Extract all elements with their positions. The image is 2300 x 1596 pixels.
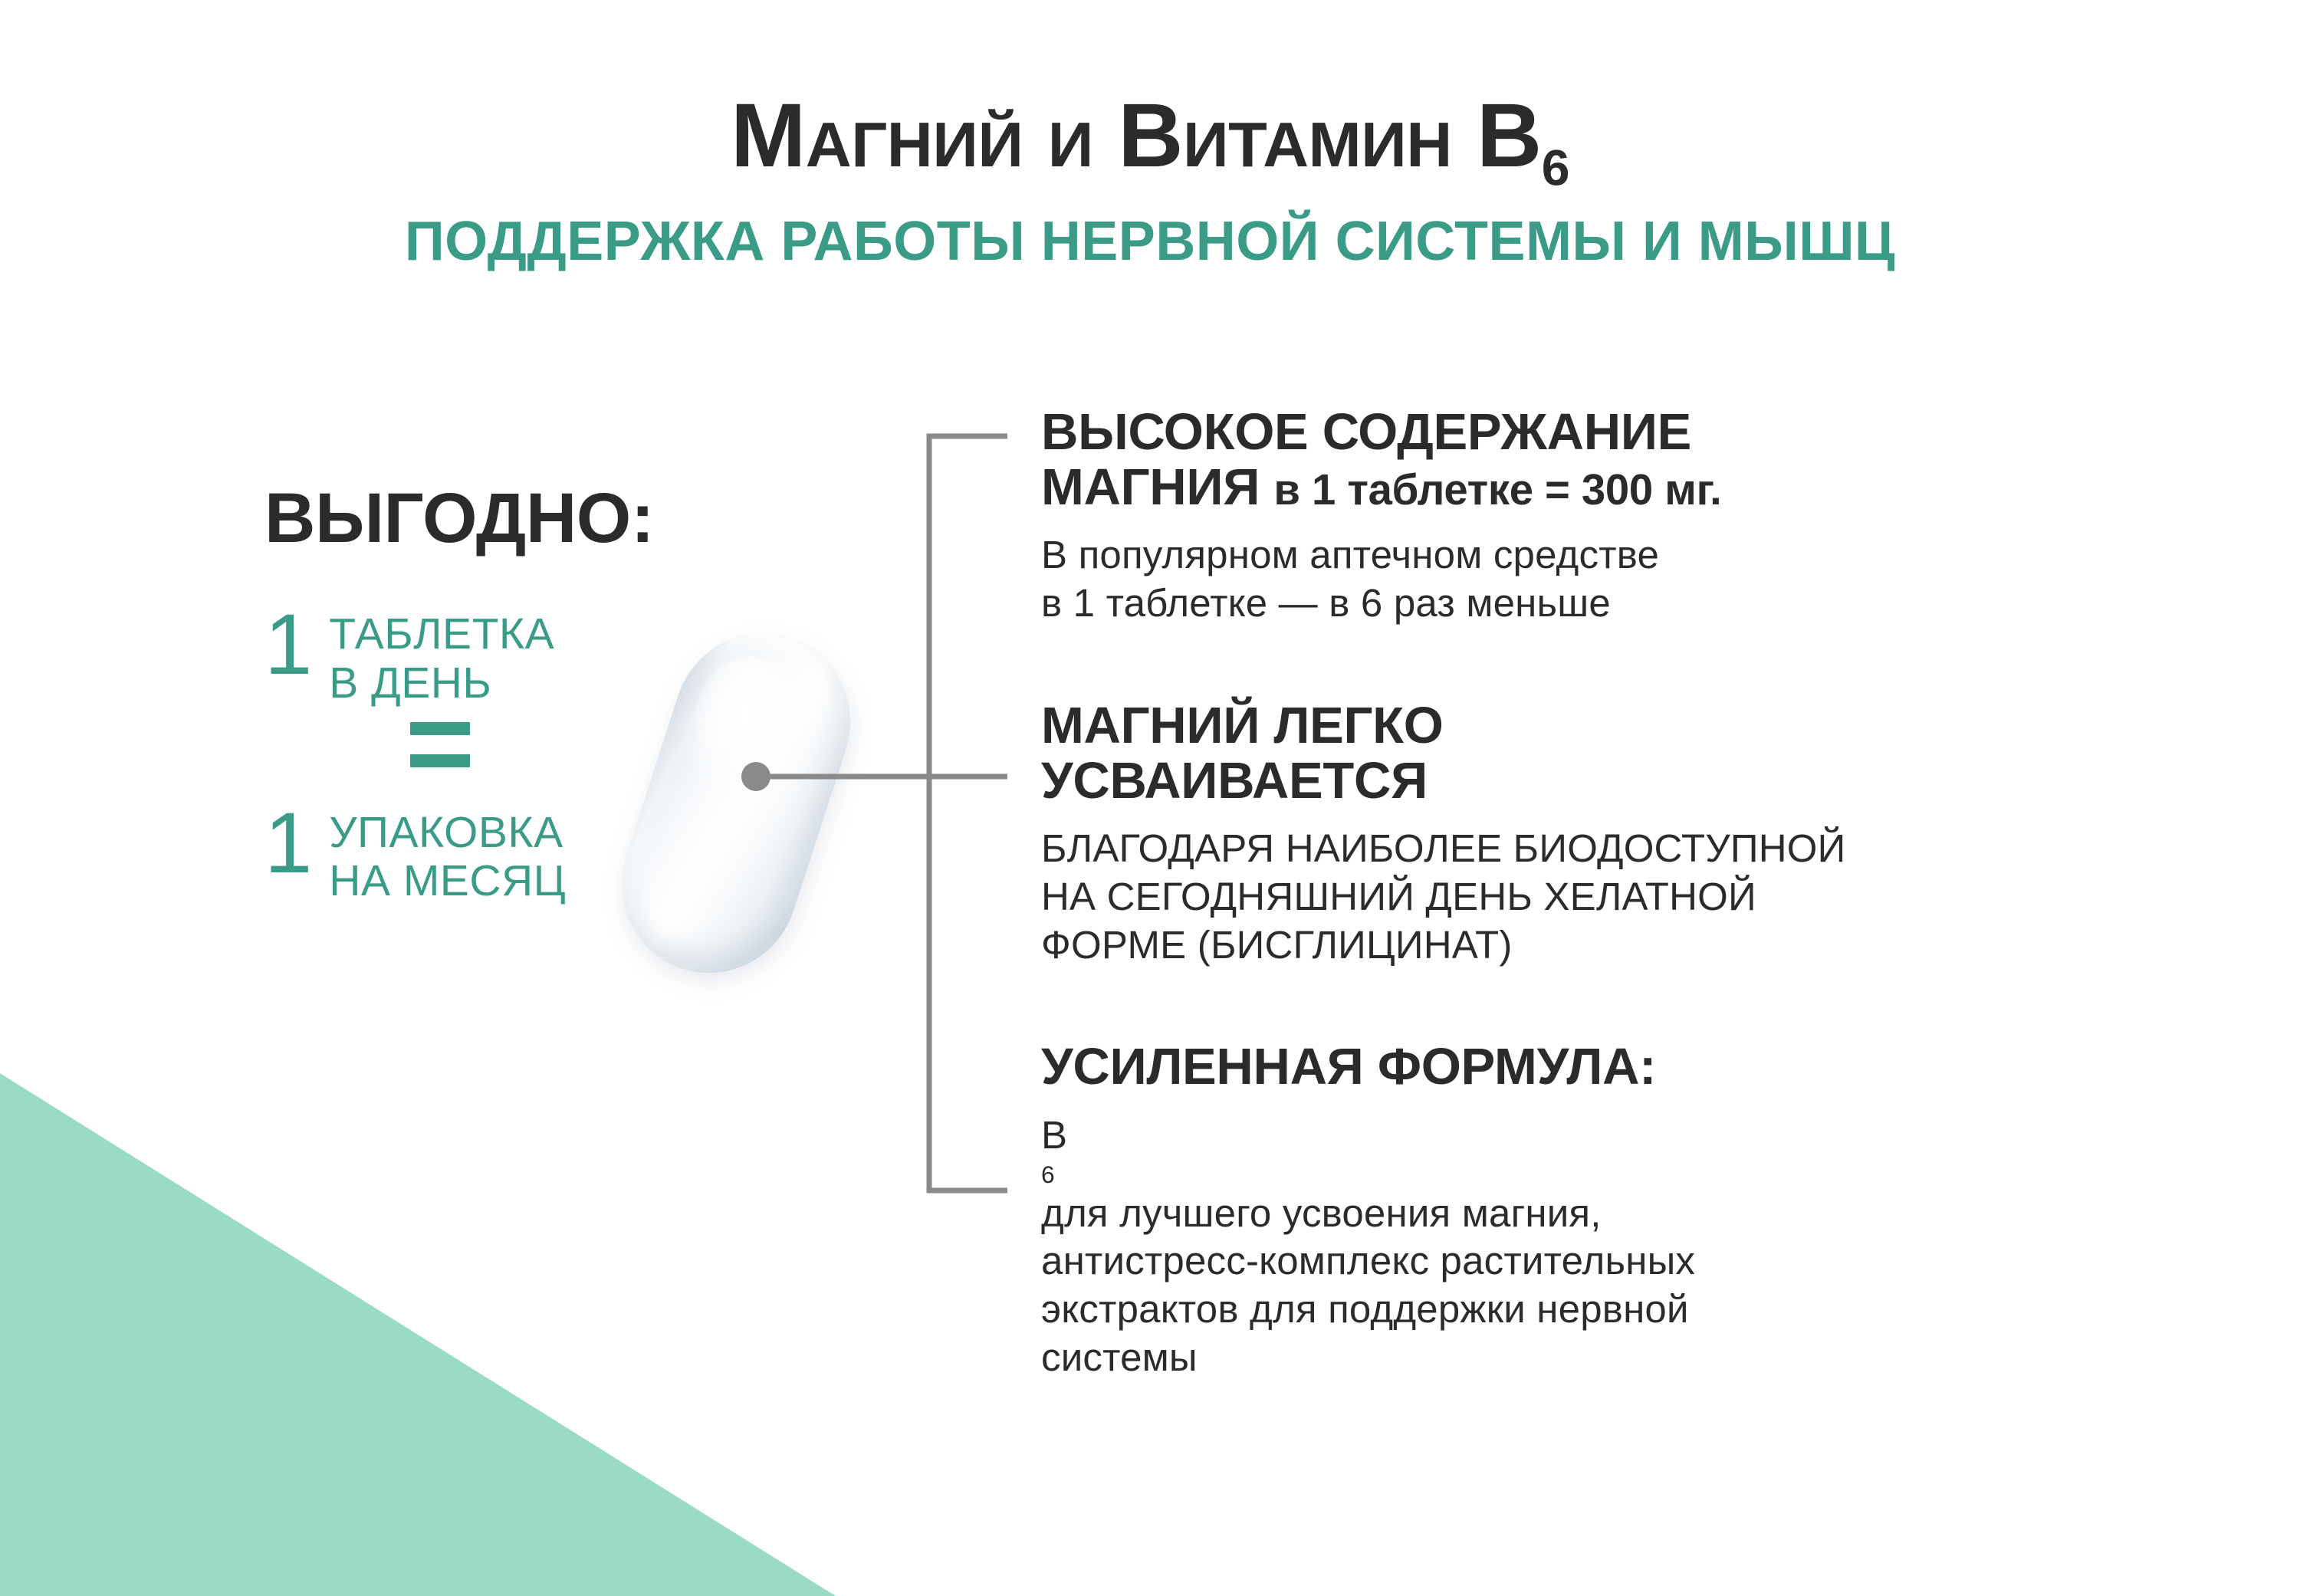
infographic-canvas: Магний и Витамин B6 ПОДДЕРЖКА РАБОТЫ НЕР… xyxy=(0,0,2300,1596)
connector-lines xyxy=(0,0,2300,1596)
connector-anchor-dot xyxy=(741,762,770,791)
